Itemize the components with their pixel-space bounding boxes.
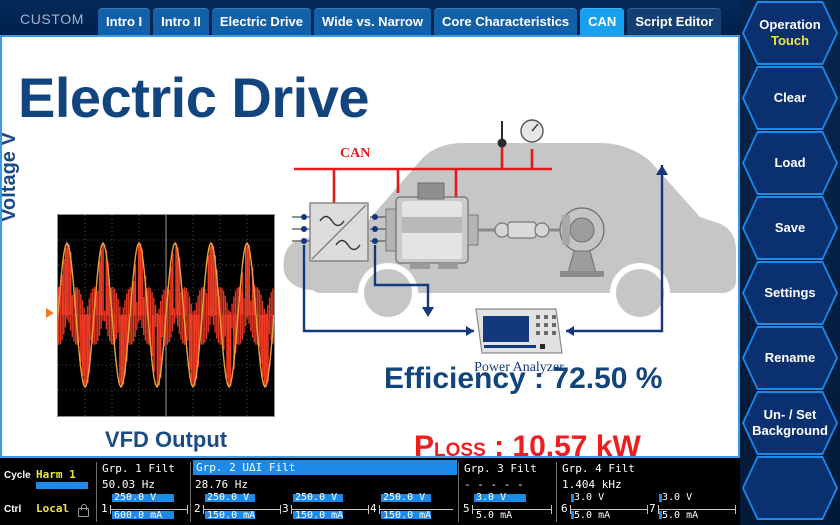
group-2-channel-3-current: 150.0 mA bbox=[295, 510, 343, 521]
save-label: Save bbox=[775, 220, 805, 236]
tab-can[interactable]: CAN bbox=[580, 8, 624, 35]
ploss-subscript: LOSS bbox=[434, 440, 486, 458]
efficiency-readout: Efficiency : 72.50 % bbox=[384, 362, 662, 396]
status-cycle-column: Cycle Harm 1 Ctrl Local bbox=[0, 458, 96, 525]
sidebar-button-settings[interactable]: Settings bbox=[742, 261, 838, 325]
gauge-sensor-icon bbox=[521, 120, 543, 142]
hex-body: Rename bbox=[744, 328, 836, 388]
inverter-block bbox=[310, 203, 368, 261]
cycle-bar bbox=[36, 482, 88, 489]
group-1-header: Grp. 1 Filt bbox=[102, 462, 175, 475]
group-4-channel-6-tick-right bbox=[647, 505, 648, 514]
set-background-value: Background bbox=[752, 423, 828, 439]
group-4-channel-6-current: 5.0 mA bbox=[574, 510, 610, 521]
hex-body: Settings bbox=[744, 263, 836, 323]
efficiency-label: Efficiency : bbox=[384, 362, 552, 395]
status-group-2[interactable]: Grp. 2 UΔI Filt 28.76 Hz 2 250.0 V 150.0… bbox=[193, 458, 455, 525]
ploss-separator: : bbox=[486, 430, 513, 458]
arrow-to-analyzer-left bbox=[466, 326, 474, 336]
group-3-channel-5-tick-right bbox=[551, 505, 552, 514]
ploss-readout: PLOSS : 10.57 kW bbox=[414, 430, 641, 458]
ctrl-label: Ctrl bbox=[4, 504, 21, 515]
group-3-channel-5-current: 5.0 mA bbox=[476, 510, 512, 521]
group-1-channel-1-voltage: 250.0 V bbox=[114, 492, 156, 503]
cycle-value[interactable]: Harm 1 bbox=[36, 468, 76, 481]
wheel-front bbox=[364, 269, 412, 317]
status-divider-1 bbox=[96, 462, 97, 522]
drivetrain-diagram: CAN bbox=[270, 105, 740, 405]
group-4-channel-7-voltage: 3.0 V bbox=[662, 492, 692, 503]
lock-icon[interactable] bbox=[78, 508, 89, 517]
group-1-channel-1-number: 1 bbox=[101, 502, 108, 515]
group-3-channel-5-voltage: 3.0 V bbox=[476, 492, 506, 503]
group-2-channel-4-current: 150.0 mA bbox=[383, 510, 431, 521]
group-3-channel-5-tick-left bbox=[472, 505, 473, 514]
settings-label: Settings bbox=[764, 285, 815, 301]
group-2-channel-3-number: 3 bbox=[282, 502, 289, 515]
group-2-channel-2-tick-right bbox=[280, 505, 281, 514]
operation-value: Touch bbox=[771, 33, 809, 49]
hex-body bbox=[744, 458, 836, 518]
set-background-label: Un- / Set bbox=[764, 407, 817, 423]
status-divider-3 bbox=[458, 462, 459, 522]
rename-label: Rename bbox=[765, 350, 816, 366]
group-2-channel-4-number: 4 bbox=[370, 502, 377, 515]
status-group-3[interactable]: Grp. 3 Filt - - - - - 5 3.0 V 5.0 mA bbox=[462, 458, 554, 525]
hex-body: Operation Touch bbox=[744, 3, 836, 63]
sidebar-button-operation[interactable]: Operation Touch bbox=[742, 1, 838, 65]
ploss-label: P bbox=[414, 430, 434, 458]
content-panel: Electric Drive CAN bbox=[0, 35, 740, 458]
group-2-channel-3-voltage: 250.0 V bbox=[295, 492, 337, 503]
status-group-4[interactable]: Grp. 4 Filt 1.404 kHz 6 3.0 V 5.0 mA 7 3… bbox=[560, 458, 740, 525]
hex-body: Save bbox=[744, 198, 836, 258]
group-2-channel-2-current: 150.0 mA bbox=[207, 510, 255, 521]
sidebar-button-rename[interactable]: Rename bbox=[742, 326, 838, 390]
scope-caption: VFD Output bbox=[57, 427, 275, 453]
group-2-channel-3-tick-right bbox=[368, 505, 369, 514]
group-4-channel-7-tick-right bbox=[735, 505, 736, 514]
load-label: Load bbox=[774, 155, 805, 171]
waveform-display[interactable] bbox=[57, 214, 275, 417]
group-2-frequency: 28.76 Hz bbox=[195, 478, 248, 491]
ploss-value: 10.57 kW bbox=[512, 430, 640, 458]
status-group-1[interactable]: Grp. 1 Filt 50.03 Hz 1 250.0 V 600.0 mA bbox=[100, 458, 188, 525]
tab-script-editor[interactable]: Script Editor bbox=[627, 8, 721, 35]
sidebar-button-load[interactable]: Load bbox=[742, 131, 838, 195]
group-4-channel-7-current: 5.0 mA bbox=[662, 510, 698, 521]
tab-intro-ii[interactable]: Intro II bbox=[153, 8, 209, 35]
right-sidebar: Operation Touch Clear Load Save Sett bbox=[740, 0, 840, 525]
tab-electric-drive[interactable]: Electric Drive bbox=[212, 8, 311, 35]
hex-body: Load bbox=[744, 133, 836, 193]
sidebar-button-save[interactable]: Save bbox=[742, 196, 838, 260]
tab-core-characteristics[interactable]: Core Characteristics bbox=[434, 8, 577, 35]
arrow-to-analyzer-right bbox=[566, 326, 574, 336]
group-1-channel-1-tick-right bbox=[187, 505, 188, 514]
tab-wide-vs-narrow[interactable]: Wide vs. Narrow bbox=[314, 8, 431, 35]
wheel-rear bbox=[616, 269, 664, 317]
sidebar-button-set-background[interactable]: Un- / Set Background bbox=[742, 391, 838, 455]
sidebar-button-clear[interactable]: Clear bbox=[742, 66, 838, 130]
clear-label: Clear bbox=[774, 90, 807, 106]
hex-body: Clear bbox=[744, 68, 836, 128]
group-2-header: Grp. 2 UΔI Filt bbox=[193, 460, 457, 475]
group-2-channel-2-number: 2 bbox=[194, 502, 201, 515]
group-1-frequency: 50.03 Hz bbox=[102, 478, 155, 491]
group-4-frequency: 1.404 kHz bbox=[562, 478, 622, 491]
application-window: CUSTOM Intro I Intro II Electric Drive W… bbox=[0, 0, 840, 525]
sidebar-button-empty[interactable] bbox=[742, 456, 838, 520]
status-divider-2 bbox=[190, 462, 191, 522]
power-analyzer-device bbox=[476, 309, 562, 353]
scope-y-axis-label: Voltage V bbox=[0, 102, 21, 252]
group-2-channel-4-tick-left bbox=[379, 505, 380, 514]
ctrl-value[interactable]: Local bbox=[36, 502, 69, 515]
arrow-to-analyzer-top bbox=[422, 307, 434, 317]
group-2-channel-3-tick-left bbox=[291, 505, 292, 514]
group-4-channel-6-voltage: 3.0 V bbox=[574, 492, 604, 503]
group-3-frequency: - - - - - bbox=[464, 478, 524, 491]
custom-label: CUSTOM bbox=[0, 11, 98, 35]
group-3-channel-5-number: 5 bbox=[463, 502, 470, 515]
group-3-header: Grp. 3 Filt bbox=[464, 462, 537, 475]
temperature-sensor-icon bbox=[498, 121, 507, 148]
can-label: CAN bbox=[340, 146, 370, 161]
trigger-marker-icon bbox=[46, 308, 54, 318]
group-1-channel-1-current: 600.0 mA bbox=[114, 510, 162, 521]
status-divider-4 bbox=[556, 462, 557, 522]
group-2-channel-4-voltage: 250.0 V bbox=[383, 492, 425, 503]
tab-bar: CUSTOM Intro I Intro II Electric Drive W… bbox=[0, 0, 740, 35]
status-bar: Cycle Harm 1 Ctrl Local Grp. 1 Filt 50.0… bbox=[0, 458, 740, 525]
group-2-channel-2-voltage: 250.0 V bbox=[207, 492, 249, 503]
group-1-channel-1-tick-left bbox=[110, 505, 111, 514]
group-4-header: Grp. 4 Filt bbox=[562, 462, 635, 475]
efficiency-value: 72.50 % bbox=[552, 362, 662, 395]
operation-label: Operation bbox=[759, 17, 820, 33]
hex-body: Un- / Set Background bbox=[744, 393, 836, 453]
group-2-channel-2-tick-left bbox=[203, 505, 204, 514]
group-4-channel-6-number: 6 bbox=[561, 502, 568, 515]
tab-intro-i[interactable]: Intro I bbox=[98, 8, 150, 35]
cycle-label: Cycle bbox=[4, 470, 31, 481]
group-4-channel-7-number: 7 bbox=[649, 502, 656, 515]
waveform-svg bbox=[58, 215, 274, 416]
